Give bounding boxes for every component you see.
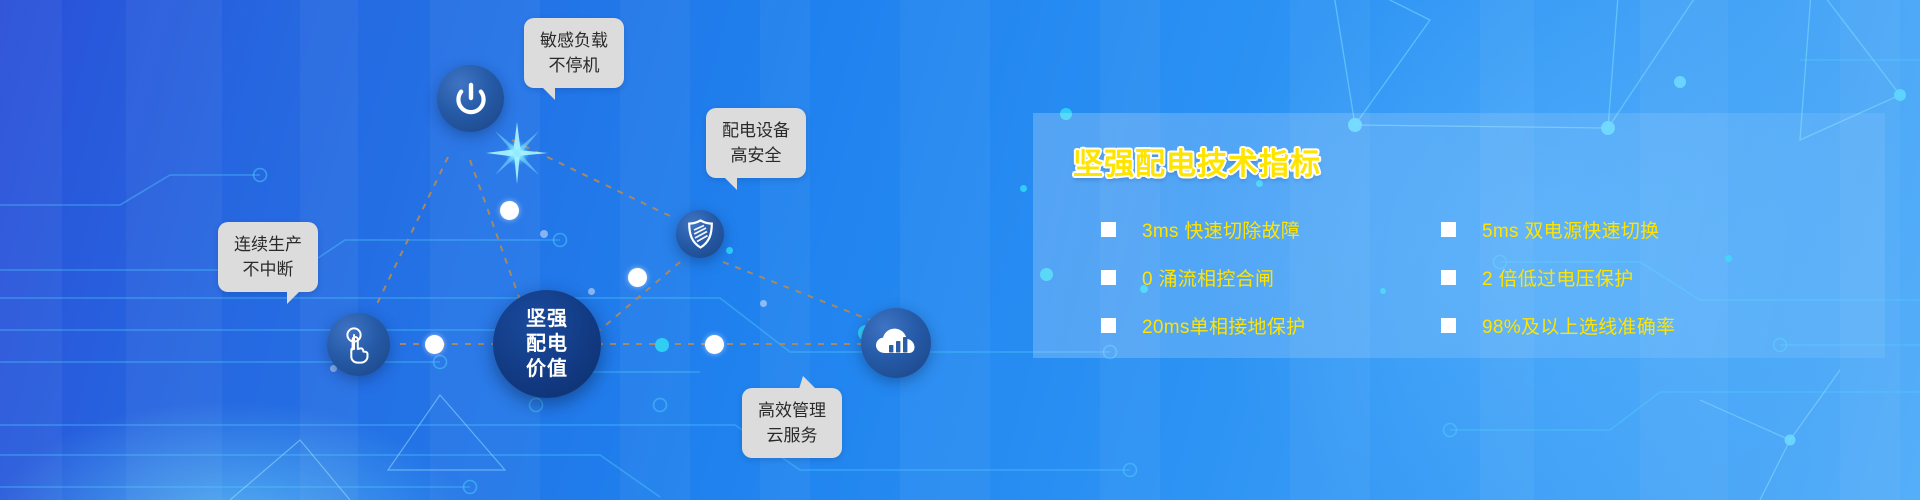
accent-dot (1020, 185, 1027, 192)
bullet-square-icon (1441, 222, 1456, 237)
link-dot (500, 201, 519, 220)
node-cloud-chart[interactable] (861, 308, 931, 378)
spec-item-text: 20ms单相接地保护 (1142, 312, 1305, 339)
callout-line-2: 云服务 (758, 423, 826, 448)
spec-item-text: 0 涌流相控合闸 (1142, 264, 1274, 291)
spec-item: 2 倍低过电压保护 (1441, 264, 1781, 291)
callout-line-1: 连续生产 (234, 232, 302, 257)
sparkle-icon (486, 122, 548, 184)
spec-item: 0 涌流相控合闸 (1101, 264, 1441, 291)
callout-line-1: 敏感负载 (540, 28, 608, 53)
power-button-icon (452, 80, 490, 118)
node-shield[interactable] (676, 210, 724, 258)
callout-continuous-production[interactable]: 连续生产 不中断 (218, 222, 318, 292)
spec-item: 3ms 快速切除故障 (1101, 216, 1441, 243)
bullet-square-icon (1101, 222, 1116, 237)
node-power-button[interactable] (437, 65, 504, 132)
hub-core-value[interactable]: 坚强 配电 价值 (493, 290, 601, 398)
spec-panel: 坚强配电技术指标 3ms 快速切除故障 5ms 双电源快速切换 0 涌流相控合闸… (1033, 113, 1885, 358)
accent-dot (655, 338, 669, 352)
bullet-square-icon (1101, 270, 1116, 285)
accent-dot (540, 230, 548, 238)
link-dot (705, 335, 724, 354)
link-dot (425, 335, 444, 354)
hand-touch-icon (341, 326, 377, 364)
spec-item-text: 2 倍低过电压保护 (1482, 264, 1634, 291)
callout-line-2: 不中断 (234, 257, 302, 282)
spec-item: 5ms 双电源快速切换 (1441, 216, 1781, 243)
accent-dot (760, 300, 767, 307)
shield-icon (687, 219, 714, 249)
callout-sensitive-load[interactable]: 敏感负载 不停机 (524, 18, 624, 88)
spec-item-text: 98%及以上选线准确率 (1482, 312, 1675, 339)
spec-item: 98%及以上选线准确率 (1441, 312, 1781, 339)
hub-line-1: 坚强 (526, 307, 568, 332)
callout-cloud-service[interactable]: 高效管理 云服务 (742, 388, 842, 458)
callout-line-1: 配电设备 (722, 118, 790, 143)
accent-dot (588, 288, 595, 295)
spec-panel-title: 坚强配电技术指标 (1073, 139, 1885, 183)
spec-item-text: 5ms 双电源快速切换 (1482, 216, 1659, 243)
callout-line-2: 高安全 (722, 143, 790, 168)
bullet-square-icon (1101, 318, 1116, 333)
hub-line-3: 价值 (526, 357, 568, 382)
accent-dot (726, 247, 733, 254)
bullet-square-icon (1441, 318, 1456, 333)
spec-list: 3ms 快速切除故障 5ms 双电源快速切换 0 涌流相控合闸 2 倍低过电压保… (1101, 205, 1885, 349)
bullet-square-icon (1441, 270, 1456, 285)
callout-line-2: 不停机 (540, 53, 608, 78)
spec-item: 20ms单相接地保护 (1101, 312, 1441, 339)
link-dot (628, 268, 647, 287)
cloud-bar-chart-icon (875, 324, 917, 362)
node-hand-touch[interactable] (327, 313, 390, 376)
callout-distribution-safety[interactable]: 配电设备 高安全 (706, 108, 806, 178)
spec-item-text: 3ms 快速切除故障 (1142, 216, 1300, 243)
hub-line-2: 配电 (526, 332, 568, 357)
promo-banner: 坚强 配电 价值 敏感负载 不停机 配电设备 高安全 连续生产 不中断 高效管理… (0, 0, 1920, 500)
callout-line-1: 高效管理 (758, 398, 826, 423)
